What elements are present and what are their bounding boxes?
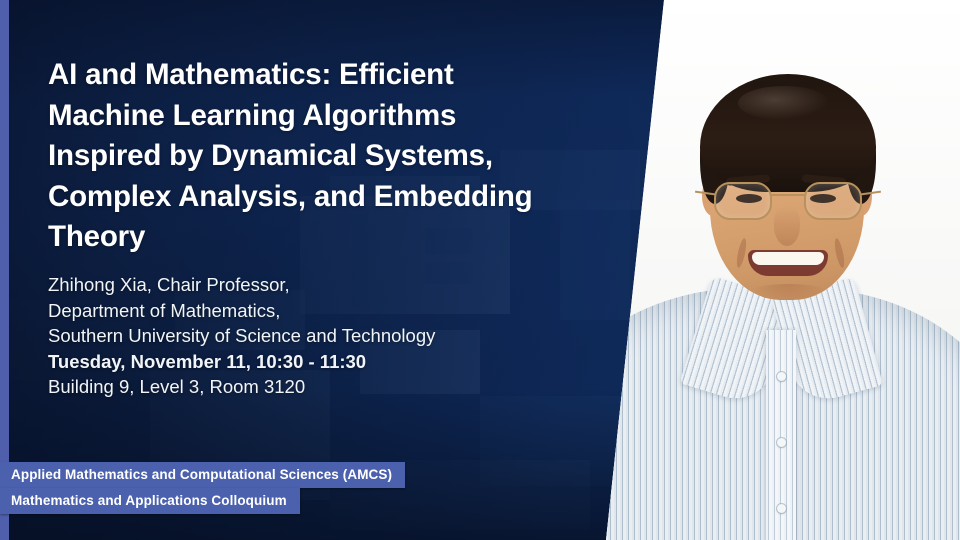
lens-right [804, 182, 862, 220]
speaker-institution: Southern University of Science and Techn… [48, 323, 588, 349]
seminar-datetime: Tuesday, November 11, 10:30 - 11:30 [48, 349, 588, 375]
speaker-name-and-title: Zhihong Xia, Chair Professor, [48, 272, 588, 298]
seminar-title: AI and Mathematics: Efficient Machine Le… [48, 55, 568, 258]
left-accent-strip [0, 0, 9, 540]
tag-bars: Applied Mathematics and Computational Sc… [0, 462, 405, 514]
seminar-details: Zhihong Xia, Chair Professor, Department… [48, 272, 588, 400]
poster-text-content: AI and Mathematics: Efficient Machine Le… [0, 0, 620, 540]
glasses-bridge [770, 194, 806, 196]
chin-shadow [748, 284, 828, 302]
shirt-button [777, 438, 786, 447]
teeth [752, 252, 824, 265]
speaker-department: Department of Mathematics, [48, 298, 588, 324]
lens-left [714, 182, 772, 220]
shirt-button [777, 372, 786, 381]
series-tag: Mathematics and Applications Colloquium [0, 488, 300, 514]
hair-highlight [738, 86, 830, 120]
shirt-button [777, 504, 786, 513]
mouth [748, 250, 828, 276]
program-tag: Applied Mathematics and Computational Sc… [0, 462, 405, 488]
seminar-poster: AI and Mathematics: Efficient Machine Le… [0, 0, 960, 540]
nose [774, 206, 800, 246]
program-tag-row: Applied Mathematics and Computational Sc… [0, 462, 405, 488]
seminar-location: Building 9, Level 3, Room 3120 [48, 374, 588, 400]
series-tag-row: Mathematics and Applications Colloquium [0, 488, 405, 514]
